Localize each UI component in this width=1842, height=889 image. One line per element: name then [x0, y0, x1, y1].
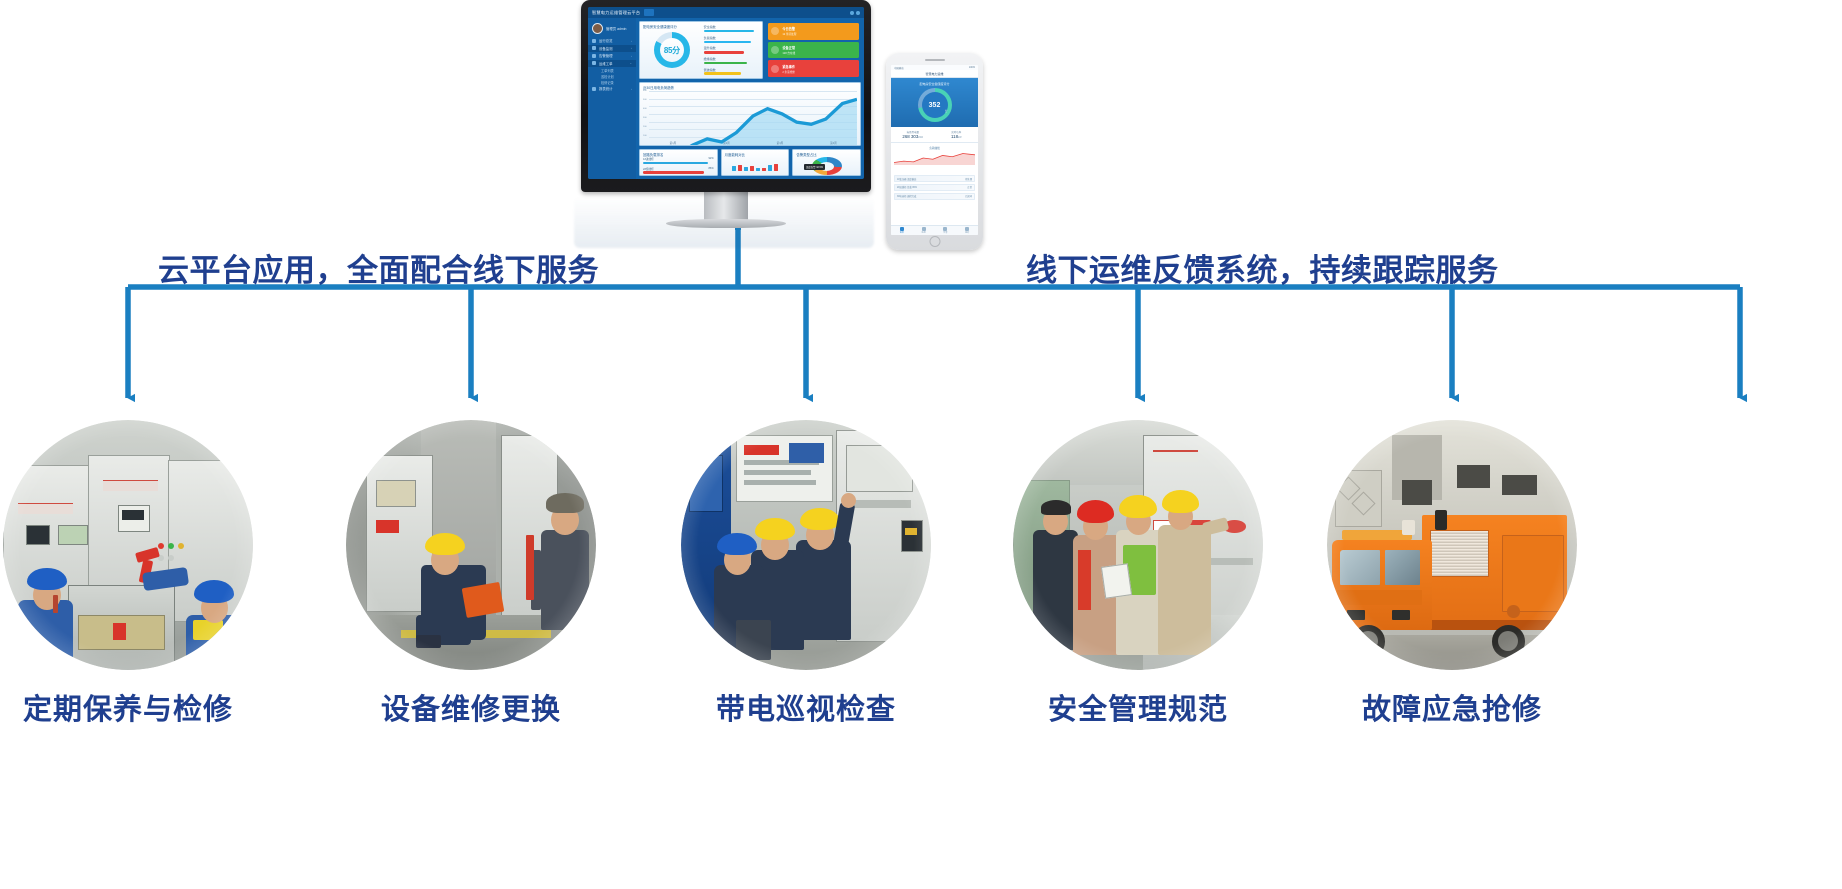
circuit-rank-card: 回路负载排名 1#进线柜 92% [639, 149, 718, 176]
list-item-label: 2#进线柜 负载 86% [897, 185, 917, 189]
battery-label: 100% [969, 66, 975, 69]
monitor-stand-base [666, 219, 786, 228]
legend-bar [704, 72, 741, 74]
tab-monitor[interactable]: 监测 [922, 227, 926, 235]
rank-bar [643, 162, 708, 164]
phone-chart-title: 负荷曲线 [894, 146, 975, 150]
photo-repair [346, 420, 596, 670]
scene-inspection [681, 420, 931, 670]
sidebar-item-label: 报表统计 [599, 86, 613, 91]
headline-left: 云平台应用，全面配合线下服务 [158, 245, 599, 290]
scene-maintenance [3, 420, 253, 670]
headline-right: 线下运维反馈系统，持续跟踪服务 [1026, 245, 1499, 290]
chart-icon [592, 87, 596, 91]
phone-chart: 负荷曲线 [891, 143, 978, 173]
list-item-label: 3#电容柜 巡检完成 [897, 194, 916, 198]
sidebar-item-worksheets[interactable]: 运维工单 ⌄ [588, 60, 636, 68]
sidebar-item-label: 运行总览 [599, 38, 613, 43]
infographic-canvas: 智慧电力运维管理云平台 管理员 admin [0, 0, 1842, 889]
list-item-value: 已闭环 [965, 194, 972, 198]
phone-stat-row: 当月用电量 268 303kWh 实时功率 118kW [891, 127, 978, 143]
phone-body: 中国移动 100% 智慧电力运维 配电房安全健康度评分 352 分 [886, 53, 983, 250]
phone-score-unit: 分 [945, 109, 948, 113]
legend-label: 谐波指数 [704, 68, 759, 72]
legend-bar [704, 41, 751, 43]
legend-row: 绝缘指数 [704, 57, 759, 64]
y-tick: 300 [643, 117, 647, 119]
stat-unit: kWh [918, 136, 923, 139]
y-tick: 100 [643, 135, 647, 137]
legend-label: 绝缘指数 [704, 57, 759, 61]
circuit-rank-list: 1#进线柜 92% 2#馈线柜 8 [640, 157, 717, 176]
health-score-title: 配电房安全健康度评分 [640, 22, 680, 29]
alert-sub: 12 条待处理 [782, 32, 796, 36]
dashboard-main: 配电房安全健康度评分 85分 安全指数 [636, 18, 864, 179]
alert-tile-critical[interactable]: 紧急事件 2 条需抢修 [768, 60, 859, 77]
service-item-safety[interactable]: 安全管理规范 [1013, 420, 1263, 728]
legend-label: 负载指数 [704, 36, 759, 40]
energy-bar-title: 月度能耗对比 [722, 150, 789, 157]
dashboard-title: 智慧电力运维管理云平台 [592, 10, 640, 16]
sidebar-item-monitoring[interactable]: 设备监测 › [588, 45, 636, 53]
rank-row: 2#馈线柜 86% [643, 167, 714, 174]
grid-icon [592, 39, 596, 43]
x-tick: 第1周 [670, 141, 677, 145]
tab-alarm[interactable]: 告警 [943, 227, 947, 235]
stat-value: 268 303 [902, 134, 918, 139]
bell-icon [943, 227, 947, 231]
alert-icon [771, 65, 779, 73]
legend-row: 谐波指数 [704, 68, 759, 75]
alarm-pie-card: 告警类型占比 温度告警 32.5% [792, 149, 861, 176]
monitor-stand-neck [704, 190, 748, 222]
list-item[interactable]: 1#变压器 温度偏高 待处理 [894, 175, 975, 182]
sidebar-item-alarms[interactable]: 告警管理 › [588, 52, 636, 60]
scene-emergency [1327, 420, 1577, 670]
chevron-down-icon: ⌄ [629, 61, 632, 65]
phone-nav-title: 智慧电力运维 [925, 72, 943, 76]
alert-sub: 128 台在线 [782, 51, 795, 55]
phone-hero-title: 配电房安全健康度评分 [919, 82, 949, 86]
load-trend-title: 近30日用电负荷趋势 [640, 83, 860, 90]
bell-icon[interactable] [850, 11, 854, 15]
y-tick: 200 [643, 126, 647, 128]
photo-emergency [1327, 420, 1577, 670]
gear-icon[interactable] [856, 11, 860, 15]
phone-home-button[interactable] [929, 236, 940, 247]
check-icon [771, 46, 779, 54]
scene-repair [346, 420, 596, 670]
dashboard-sidebar: 管理员 admin 运行总览 › 设备监测 [588, 18, 636, 179]
phone-score-value: 352 [918, 88, 952, 122]
alert-tile-warning[interactable]: 今日告警 12 条待处理 [768, 23, 859, 40]
device-group: 智慧电力运维管理云平台 管理员 admin [556, 0, 1026, 250]
x-tick: 第4周 [830, 141, 837, 145]
scene-safety [1013, 420, 1263, 670]
x-tick: 第2周 [723, 141, 730, 145]
home-icon [900, 227, 904, 231]
stat-value: 118 [951, 134, 958, 139]
monitor-icon [922, 227, 926, 231]
service-item-maintenance[interactable]: 定期保养与检修 [3, 420, 253, 728]
sidebar-user-name: 管理员 admin [606, 26, 626, 31]
service-item-inspection[interactable]: 带电巡视检查 [681, 420, 931, 728]
phone-tab-bar: 首页 监测 告警 我的 [891, 225, 978, 235]
rank-row: 1#进线柜 92% [643, 157, 714, 164]
caption-emergency: 故障应急抢修 [1327, 686, 1577, 728]
sidebar-item-reports[interactable]: 报表统计 › [588, 85, 636, 93]
legend-label: 安全指数 [704, 25, 759, 29]
caption-safety: 安全管理规范 [1013, 686, 1263, 728]
dashboard-tab[interactable] [644, 9, 654, 16]
phone-earpiece [925, 59, 945, 61]
y-tick: 400 [643, 108, 647, 110]
tab-label: 监测 [922, 231, 926, 234]
legend-row: 温升指数 [704, 46, 759, 53]
chevron-right-icon: › [631, 39, 632, 43]
photo-maintenance [3, 420, 253, 670]
alert-tiles: 今日告警 12 条待处理 设备正常 128 台在线 [766, 21, 861, 79]
sidebar-user[interactable]: 管理员 admin [588, 21, 636, 37]
warning-icon [771, 27, 779, 35]
alert-title: 紧急事件 [782, 64, 795, 69]
health-gauge: 85分 [654, 32, 690, 68]
tab-label: 告警 [943, 231, 947, 234]
chevron-right-icon: › [631, 87, 632, 91]
monitor-bezel: 智慧电力运维管理云平台 管理员 admin [581, 0, 871, 192]
rank-value: 92% [708, 157, 713, 161]
rank-label: 1#进线柜 [643, 157, 654, 161]
list-item[interactable]: 2#进线柜 负载 86% 正常 [894, 184, 975, 191]
tab-label: 我的 [965, 231, 969, 234]
photo-safety [1013, 420, 1263, 670]
chevron-right-icon: › [631, 46, 632, 50]
list-item-value: 待处理 [965, 177, 972, 181]
list-item[interactable]: 3#电容柜 巡检完成 已闭环 [894, 193, 975, 200]
chevron-right-icon: › [631, 54, 632, 58]
y-tick: 600 [643, 90, 647, 92]
photo-inspection [681, 420, 931, 670]
phone-score-ring: 352 分 [918, 88, 952, 122]
sidebar-menu: 运行总览 › 设备监测 › 告警管理 [588, 37, 636, 93]
rank-label: 2#馈线柜 [643, 167, 654, 171]
energy-bar-card: 月度能耗对比 [721, 149, 790, 176]
legend-bar [704, 62, 748, 64]
dashboard-titlebar: 智慧电力运维管理云平台 [588, 7, 864, 18]
legend-row: 安全指数 [704, 25, 759, 32]
legend-label: 温升指数 [704, 46, 759, 50]
phone-stat: 当月用电量 268 303kWh [891, 127, 935, 142]
list-item-value: 正常 [967, 185, 972, 189]
energy-bar-series [722, 157, 789, 175]
caption-inspection: 带电巡视检查 [681, 686, 931, 728]
alert-tile-ok[interactable]: 设备正常 128 台在线 [768, 42, 859, 59]
sidebar-item-overview[interactable]: 运行总览 › [588, 37, 636, 45]
alert-title: 设备正常 [782, 45, 795, 50]
x-tick: 第3周 [777, 141, 784, 145]
desktop-monitor: 智慧电力运维管理云平台 管理员 admin [581, 0, 871, 192]
stat-unit: kW [958, 136, 961, 139]
gauge-legend: 安全指数 负载指数 温升指数 [704, 22, 763, 78]
tab-profile[interactable]: 我的 [965, 227, 969, 235]
phone-nav-bar: 智慧电力运维 [891, 70, 978, 78]
y-tick: 500 [643, 99, 647, 101]
alert-title: 今日告警 [782, 26, 796, 31]
rank-value: 86% [708, 167, 713, 171]
gauge-wrap: 85分 [640, 22, 704, 78]
pie-tooltip: 温度告警 32.5% [804, 164, 825, 170]
tab-label: 首页 [900, 231, 904, 234]
load-trend-plot: 600 500 400 300 200 100 [643, 91, 857, 145]
alarm-pie-title: 告警类型占比 [793, 150, 860, 157]
monitor-icon [592, 46, 596, 50]
phone-stat: 实时功率 118kW [935, 127, 979, 142]
clipboard-icon [592, 61, 596, 65]
service-item-repair[interactable]: 设备维修更换 [346, 420, 596, 728]
health-score-value: 85分 [654, 32, 690, 68]
circuit-rank-title: 回路负载排名 [640, 150, 717, 157]
monitor-screen: 智慧电力运维管理云平台 管理员 admin [588, 7, 864, 179]
load-trend-card: 近30日用电负荷趋势 600 500 400 300 [639, 82, 861, 146]
tab-home[interactable]: 首页 [900, 227, 904, 235]
rank-bar [643, 171, 704, 173]
list-item-label: 1#变压器 温度偏高 [897, 177, 916, 181]
legend-bar [704, 51, 745, 53]
caption-repair: 设备维修更换 [346, 686, 596, 728]
titlebar-icons[interactable] [850, 11, 860, 15]
avatar [592, 23, 603, 34]
legend-bar [704, 30, 754, 32]
health-score-card: 配电房安全健康度评分 85分 安全指数 [639, 21, 763, 79]
user-icon [965, 227, 969, 231]
phone-screen: 中国移动 100% 智慧电力运维 配电房安全健康度评分 352 分 [891, 65, 978, 235]
load-trend-series [649, 91, 857, 146]
phone-chart-series [894, 151, 975, 165]
sidebar-item-label: 运维工单 [599, 61, 613, 66]
alert-sub: 2 条需抢修 [782, 70, 795, 74]
bell-icon [592, 54, 596, 58]
legend-row: 负载指数 [704, 36, 759, 43]
phone-hero: 配电房安全健康度评分 352 分 [891, 78, 978, 127]
caption-maintenance: 定期保养与检修 [3, 686, 253, 728]
carrier-label: 中国移动 [894, 66, 904, 70]
service-item-emergency[interactable]: 故障应急抢修 [1327, 420, 1577, 728]
mobile-phone: 中国移动 100% 智慧电力运维 配电房安全健康度评分 352 分 [886, 53, 983, 250]
phone-event-list: 1#变压器 温度偏高 待处理 2#进线柜 负载 86% 正常 3#电容柜 巡检完… [891, 173, 978, 225]
sidebar-item-label: 告警管理 [599, 53, 613, 58]
sidebar-item-label: 设备监测 [599, 46, 613, 51]
